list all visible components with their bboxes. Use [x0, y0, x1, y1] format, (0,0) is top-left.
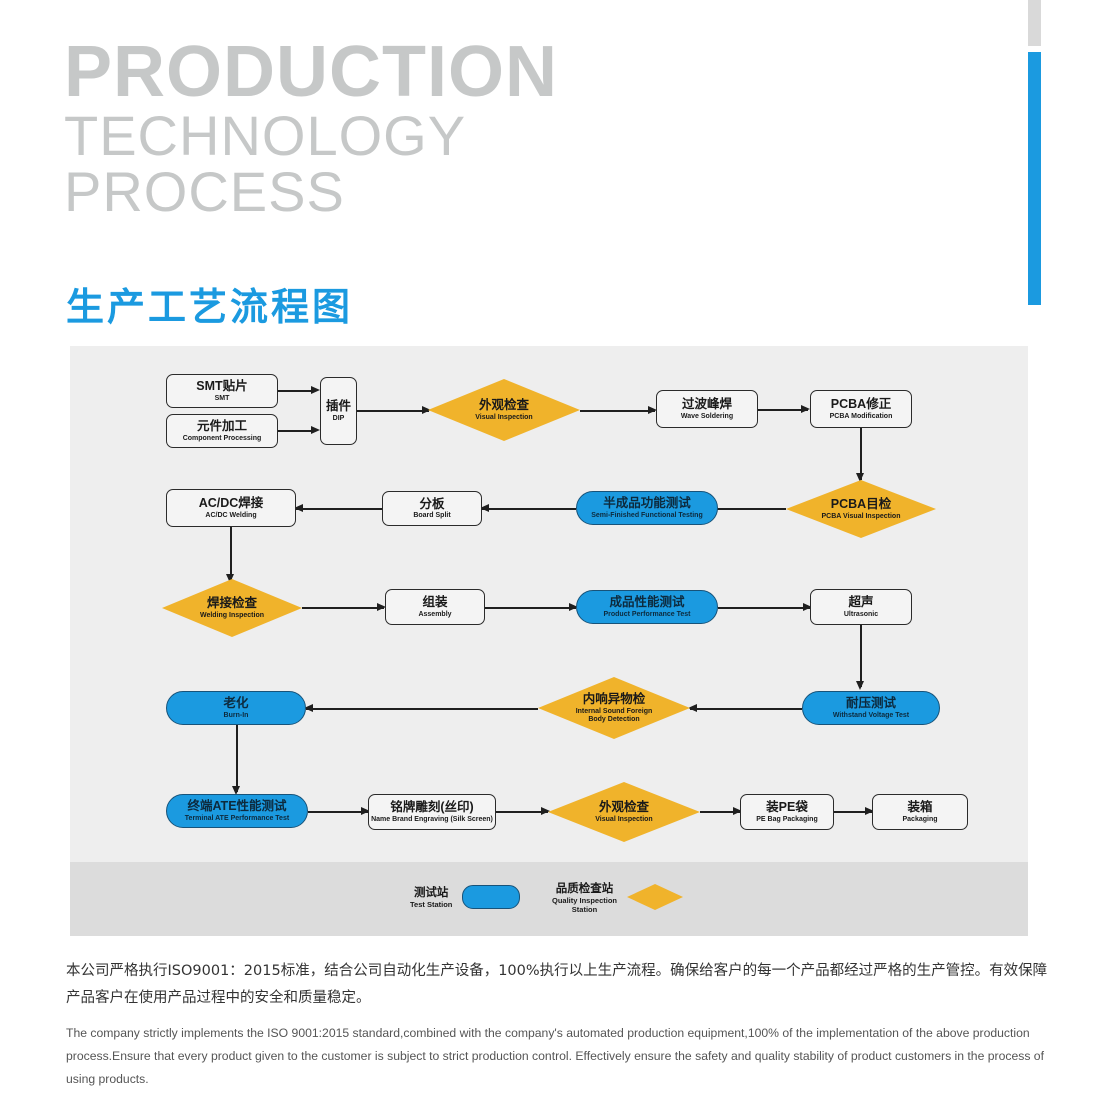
connector-boardsplit-acdc [296, 508, 382, 510]
node-label-cn: 插件 [326, 399, 351, 413]
node-label-cn: 装PE袋 [766, 800, 808, 814]
node-label-en: Component Processing [183, 435, 262, 443]
connector-dip-visual [357, 410, 429, 412]
footer-text-block: 本公司严格执行ISO9001：2015标准，结合公司自动化生产设备，100%执行… [66, 958, 1048, 1091]
node-label-en: Wave Soldering [681, 413, 733, 421]
node-label-cn: 装箱 [907, 800, 932, 814]
legend-swatch-diamond [627, 884, 683, 910]
flow-node-burn-in[interactable]: 老化 Burn-In [166, 691, 306, 725]
node-label-en: Board Split [413, 512, 450, 520]
connector-burnin-ate [236, 725, 238, 792]
connector-pcbavisual-semifunc [710, 508, 786, 510]
node-label-cn: 超声 [848, 595, 873, 609]
node-label-cn: 外观检查 [479, 398, 529, 412]
flow-node-product-performance-test[interactable]: 成品性能测试 Product Performance Test [576, 590, 718, 624]
flow-node-pcba-visual-inspection[interactable]: PCBA目检 PCBA Visual Inspection [786, 480, 936, 538]
footer-paragraph-english: The company strictly implements the ISO … [66, 1022, 1048, 1092]
node-label-cn: PCBA修正 [831, 397, 891, 411]
flow-node-wave-soldering[interactable]: 过波峰焊 Wave Soldering [656, 390, 758, 428]
node-label-cn: SMT贴片 [196, 379, 247, 393]
flow-node-ultrasonic[interactable]: 超声 Ultrasonic [810, 589, 912, 625]
node-label-cn: 分板 [419, 497, 444, 511]
flow-node-assembly[interactable]: 组装 Assembly [385, 589, 485, 625]
connector-component-dip [278, 430, 312, 432]
node-label-cn: 焊接检查 [207, 596, 257, 610]
connector-assembly-prodperf [485, 607, 576, 609]
node-label-cn: 组装 [422, 595, 447, 609]
connector-weldinspection-assembly [302, 607, 384, 609]
node-label-cn: 外观检查 [599, 800, 649, 814]
footer-paragraph-chinese: 本公司严格执行ISO9001：2015标准，结合公司自动化生产设备，100%执行… [66, 958, 1048, 1012]
arrowhead-down [856, 681, 864, 690]
flow-node-name-brand-engraving[interactable]: 铭牌雕刻(丝印) Name Brand Engraving (Silk Scre… [368, 794, 496, 830]
node-label-en: Ultrasonic [844, 611, 878, 619]
node-label-cn: 半成品功能测试 [603, 496, 691, 510]
flow-node-acdc-welding[interactable]: AC/DC焊接 AC/DC Welding [166, 489, 296, 527]
accent-bar-blue [1028, 52, 1041, 305]
arrowhead-right [311, 426, 320, 434]
node-label-cn: 成品性能测试 [609, 595, 684, 609]
node-label-en: Product Performance Test [603, 611, 690, 619]
node-label-en: PE Bag Packaging [756, 816, 817, 824]
node-label-en: Semi-Finished Functional Testing [591, 512, 703, 520]
connector-semifunc-boardsplit [482, 508, 576, 510]
legend-label-en-2: Station [552, 905, 617, 914]
node-label-cn: PCBA目检 [831, 497, 891, 511]
node-label-cn: 耐压测试 [846, 696, 896, 710]
node-label-en: Visual Inspection [595, 816, 652, 824]
connector-prodperf-ultrasonic [718, 607, 810, 609]
title-line-technology: TECHNOLOGY [64, 108, 964, 164]
node-label-en: Burn-In [224, 712, 249, 720]
flow-node-welding-inspection[interactable]: 焊接检查 Welding Inspection [162, 579, 302, 637]
connector-acdc-weldinspection [230, 527, 232, 580]
node-label-cn: AC/DC焊接 [199, 496, 264, 510]
node-label-en: Welding Inspection [200, 612, 264, 620]
flow-node-visual-inspection-1[interactable]: 外观检查 Visual Inspection [428, 379, 580, 441]
title-line-process: PROCESS [64, 164, 964, 220]
node-label-en: PCBA Modification [830, 413, 893, 421]
legend-label-en-1: Quality Inspection [552, 896, 617, 905]
node-label-en: AC/DC Welding [205, 512, 256, 520]
connector-ate-engraving [308, 811, 368, 813]
node-label-cn: 老化 [223, 696, 248, 710]
node-label-en: Assembly [418, 611, 451, 619]
flow-node-pe-bag-packaging[interactable]: 装PE袋 PE Bag Packaging [740, 794, 834, 830]
connector-visual-wave [580, 410, 655, 412]
node-label-cn: 元件加工 [197, 419, 247, 433]
legend-label-cn: 品质检查站 [552, 880, 617, 896]
node-label-en: Packaging [902, 816, 937, 824]
legend-test-station-label: 测试站 Test Station [410, 884, 452, 909]
node-label-cn: 铭牌雕刻(丝印) [390, 800, 473, 814]
node-label-cn: 过波峰焊 [682, 397, 732, 411]
connector-smt-dip [278, 390, 312, 392]
flow-node-terminal-ate-performance-test[interactable]: 终端ATE性能测试 Terminal ATE Performance Test [166, 794, 308, 828]
node-label-en: Terminal ATE Performance Test [185, 815, 289, 823]
node-label-en: PCBA Visual Inspection [822, 513, 901, 521]
node-label-cn: 内响异物检 [583, 692, 646, 706]
flow-node-dip[interactable]: 插件 DIP [320, 377, 357, 445]
flow-node-smt[interactable]: SMT贴片 SMT [166, 374, 278, 408]
node-label-cn: 终端ATE性能测试 [187, 799, 286, 813]
connector-ultrasonic-withstand [860, 625, 862, 687]
flow-node-internal-sound-foreign-body-detection[interactable]: 内响异物检 Internal Sound Foreign Body Detect… [538, 677, 690, 739]
page-title: PRODUCTION TECHNOLOGY PROCESS [64, 42, 964, 220]
flow-node-semi-finished-functional-testing[interactable]: 半成品功能测试 Semi-Finished Functional Testing [576, 491, 718, 525]
accent-bar-gray [1028, 0, 1041, 46]
flow-node-board-split[interactable]: 分板 Board Split [382, 491, 482, 526]
node-label-en: Internal Sound Foreign Body Detection [566, 708, 662, 724]
legend-panel: 测试站 Test Station 品质检查站 Quality Inspectio… [70, 862, 1028, 936]
flow-node-visual-inspection-2[interactable]: 外观检查 Visual Inspection [548, 782, 700, 842]
legend-quality-station-label: 品质检查站 Quality Inspection Station [552, 880, 617, 914]
legend-swatch-pill [462, 885, 520, 909]
legend-item-test-station: 测试站 Test Station [410, 884, 520, 909]
node-label-en: Withstand Voltage Test [833, 712, 909, 720]
title-line-production: PRODUCTION [64, 42, 964, 102]
connector-withstand-foreign [690, 708, 802, 710]
flow-node-packaging[interactable]: 装箱 Packaging [872, 794, 968, 830]
connector-foreign-burnin [306, 708, 538, 710]
subtitle-chinese: 生产工艺流程图 [66, 276, 353, 331]
flow-node-component-processing[interactable]: 元件加工 Component Processing [166, 414, 278, 448]
flowchart-panel: SMT贴片 SMT 元件加工 Component Processing 插件 D… [70, 346, 1028, 862]
flow-node-withstand-voltage-test[interactable]: 耐压测试 Withstand Voltage Test [802, 691, 940, 725]
node-label-en: SMT [215, 395, 230, 403]
arrowhead-right [801, 405, 810, 413]
legend-label-en: Test Station [410, 900, 452, 909]
legend-label-cn: 测试站 [410, 884, 452, 900]
node-label-en: DIP [333, 415, 345, 423]
node-label-en: Name Brand Engraving (Silk Screen) [371, 816, 493, 824]
node-label-en: Visual Inspection [475, 414, 532, 422]
legend-item-quality-inspection-station: 品质检查站 Quality Inspection Station [552, 880, 683, 914]
arrowhead-right [311, 386, 320, 394]
flow-node-pcba-modification[interactable]: PCBA修正 PCBA Modification [810, 390, 912, 428]
